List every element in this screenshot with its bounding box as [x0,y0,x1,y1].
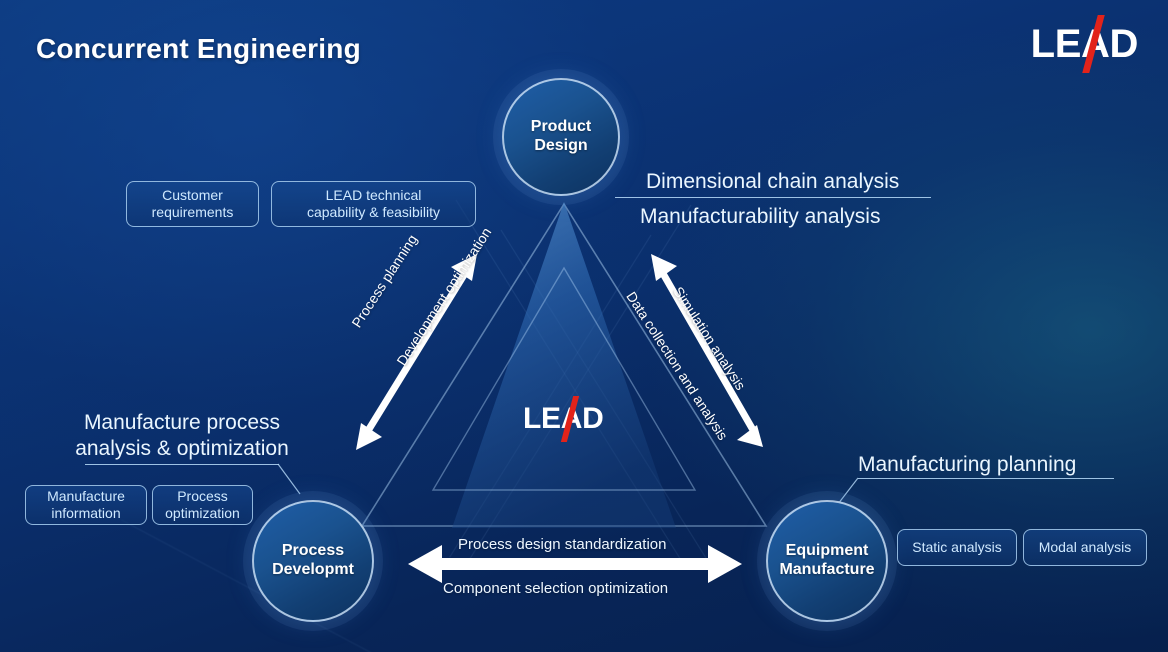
callout-manufacturing-planning: Manufacturing planning [858,449,1076,482]
background-streak [455,199,685,565]
background-streak [449,234,652,557]
arrow-label-process-design-standardization: Process design standardization [458,536,666,553]
inner-triangle-outline [430,265,698,493]
pill-manufacture-information-line2: information [47,505,125,522]
outer-triangle [358,200,770,530]
node-equipment-manufacture-line1: Equipment [779,542,874,561]
connector-right-tail [838,478,858,504]
callout-planning-divider [858,478,1114,479]
callout-manufacture-process-line2: analysis & optimization [52,436,312,462]
callout-left-divider [85,464,279,465]
arrow-label-data-collection: Data collection and analysis [623,289,731,443]
pill-static-analysis-label: Static analysis [912,539,1001,556]
node-process-development-line1: Process [272,542,354,561]
inner-triangle-fill [450,200,678,530]
node-process-development[interactable]: Process Developmt [252,500,374,622]
callout-manufacture-process-line1: Manufacture process [52,410,312,436]
node-product-design-line1: Product [531,118,591,137]
pill-lead-technical-line1: LEAD technical [307,187,440,204]
node-equipment-manufacture-line2: Manufacture [779,561,874,580]
pill-customer-requirements-line1: Customer [152,187,234,204]
logo-text-before: LE [1031,22,1081,66]
arrow-label-component-selection-optimization: Component selection optimization [443,580,668,597]
pill-process-optimization-line1: Process [165,488,240,505]
pill-lead-technical-line2: capability & feasibility [307,204,440,221]
connector-left-tail [278,464,300,494]
pill-process-optimization[interactable]: Process optimization [152,485,253,525]
pill-static-analysis[interactable]: Static analysis [897,529,1017,566]
callout-dimensional-chain-analysis: Dimensional chain analysis [646,166,899,199]
node-process-development-line2: Developmt [272,561,354,580]
pill-manufacture-information[interactable]: Manufacture information [25,485,147,525]
node-product-design[interactable]: Product Design [502,78,620,196]
arrow-label-process-planning: Process planning [348,232,420,331]
logo-text-after: D [1110,22,1139,66]
page-title: Concurrent Engineering [36,33,361,65]
pill-manufacture-information-line1: Manufacture [47,488,125,505]
pill-customer-requirements[interactable]: Customer requirements [126,181,259,227]
logo-center-text-before: LE [523,402,561,435]
pill-modal-analysis[interactable]: Modal analysis [1023,529,1147,566]
lead-logo: LEAD [1031,24,1138,64]
callout-top-divider [615,197,931,198]
callout-manufacture-process: Manufacture process analysis & optimizat… [52,410,312,463]
callout-manufacturability-analysis: Manufacturability analysis [640,201,880,234]
slide-canvas: Concurrent Engineering LEAD LEAD [0,0,1168,652]
node-product-design-line2: Design [531,137,591,156]
pill-process-optimization-line2: optimization [165,505,240,522]
lead-logo-center: LEAD [523,404,604,434]
background-streak [500,229,714,569]
node-equipment-manufacture[interactable]: Equipment Manufacture [766,500,888,622]
pill-customer-requirements-line2: requirements [152,204,234,221]
pill-modal-analysis-label: Modal analysis [1039,539,1132,556]
background-streak [468,204,692,561]
pill-lead-technical[interactable]: LEAD technical capability & feasibility [271,181,476,227]
logo-center-text-after: D [582,402,603,435]
